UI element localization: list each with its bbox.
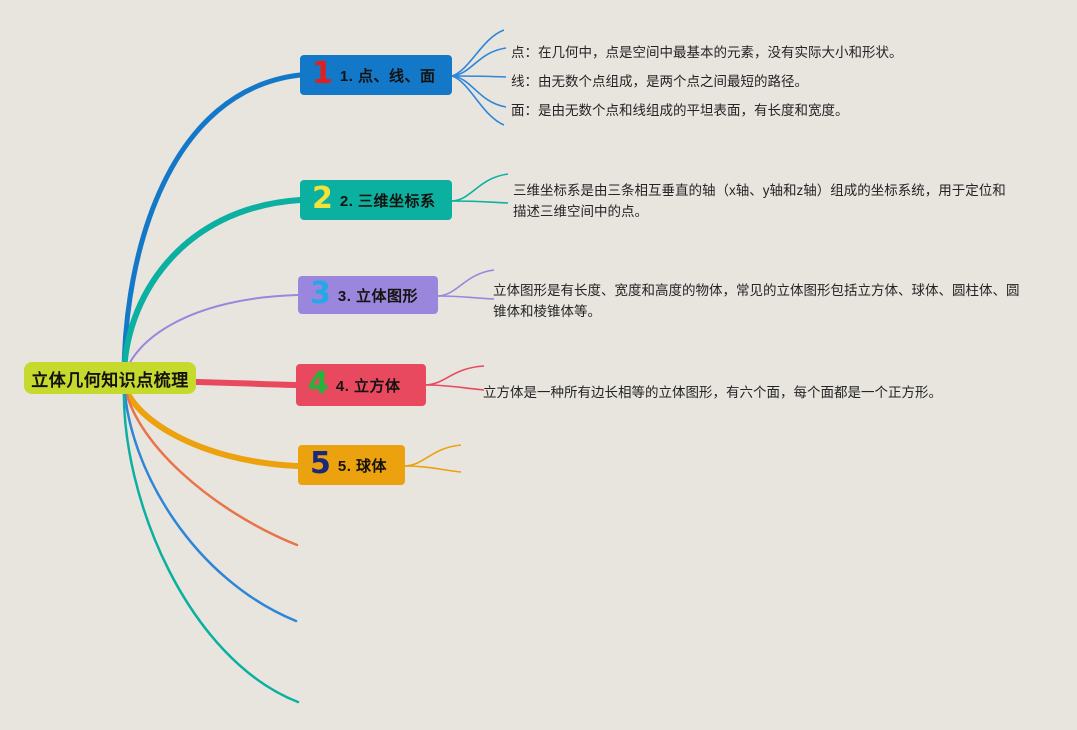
detail-text-1-2: 线：由无数个点组成，是两个点之间最短的路径。 — [511, 72, 808, 93]
branch-number-5: 5 — [310, 449, 331, 479]
branch-number-1: 1 — [312, 59, 333, 89]
detail-text-4-1: 立方体是一种所有边长相等的立体图形，有六个面，每个面都是一个正方形。 — [483, 383, 1003, 404]
branch-number-2: 2 — [312, 184, 333, 214]
branch-number-4: 4 — [308, 369, 329, 399]
branch-node-4[interactable]: 4 4. 立方体 — [296, 364, 426, 406]
branch-node-1[interactable]: 1 1. 点、线、面 — [300, 55, 452, 95]
sub-wire-4-1 — [426, 366, 484, 385]
sub-wire-1-stub-up — [452, 30, 504, 76]
sub-wire-4-2 — [426, 385, 484, 390]
sub-wire-1-2 — [452, 76, 506, 77]
branch-node-5[interactable]: 5 5. 球体 — [298, 445, 405, 485]
branch-label-1: 1. 点、线、面 — [340, 65, 436, 86]
branch-label-2: 2. 三维坐标系 — [340, 190, 436, 211]
sub-wire-2-1 — [452, 174, 508, 201]
branch-label-3: 3. 立体图形 — [338, 285, 418, 306]
branch-label-5: 5. 球体 — [338, 455, 387, 476]
branch-node-2[interactable]: 2 2. 三维坐标系 — [300, 180, 452, 220]
mindmap-canvas: 立体几何知识点梳理 1 1. 点、线、面 2 2. 三维坐标系 3 3. 立体图… — [0, 0, 1077, 730]
detail-text-1-1: 点：在几何中，点是空间中最基本的元素，没有实际大小和形状。 — [511, 43, 903, 64]
branch-label-4: 4. 立方体 — [336, 375, 401, 396]
empty-branch-wire-orange — [124, 382, 297, 545]
sub-wire-3-2 — [438, 296, 494, 299]
sub-wire-2-2 — [452, 201, 508, 203]
empty-branch-wire-blue — [124, 382, 296, 621]
root-node[interactable]: 立体几何知识点梳理 — [24, 362, 196, 394]
branch-node-3[interactable]: 3 3. 立体图形 — [298, 276, 438, 314]
sub-wire-1-stub-down — [452, 76, 504, 125]
branch-wire-5 — [124, 382, 298, 466]
branch-wire-1 — [124, 75, 300, 378]
empty-branch-wire-teal — [124, 382, 298, 702]
branch-number-3: 3 — [310, 279, 331, 309]
sub-wire-1-3 — [452, 76, 506, 107]
detail-text-1-3: 面：是由无数个点和线组成的平坦表面，有长度和宽度。 — [511, 101, 849, 122]
sub-wire-5-1 — [405, 445, 461, 466]
sub-wire-5-2 — [405, 466, 461, 472]
detail-text-3-1: 立体图形是有长度、宽度和高度的物体，常见的立体图形包括立方体、球体、圆柱体、圆锥… — [493, 281, 1023, 323]
branch-wire-2 — [124, 200, 300, 378]
sub-wire-3-1 — [438, 270, 494, 296]
sub-wire-1-1 — [452, 48, 506, 76]
detail-text-2-1: 三维坐标系是由三条相互垂直的轴（x轴、y轴和z轴）组成的坐标系统，用于定位和描述… — [513, 181, 1018, 223]
root-node-label: 立体几何知识点梳理 — [31, 366, 189, 391]
